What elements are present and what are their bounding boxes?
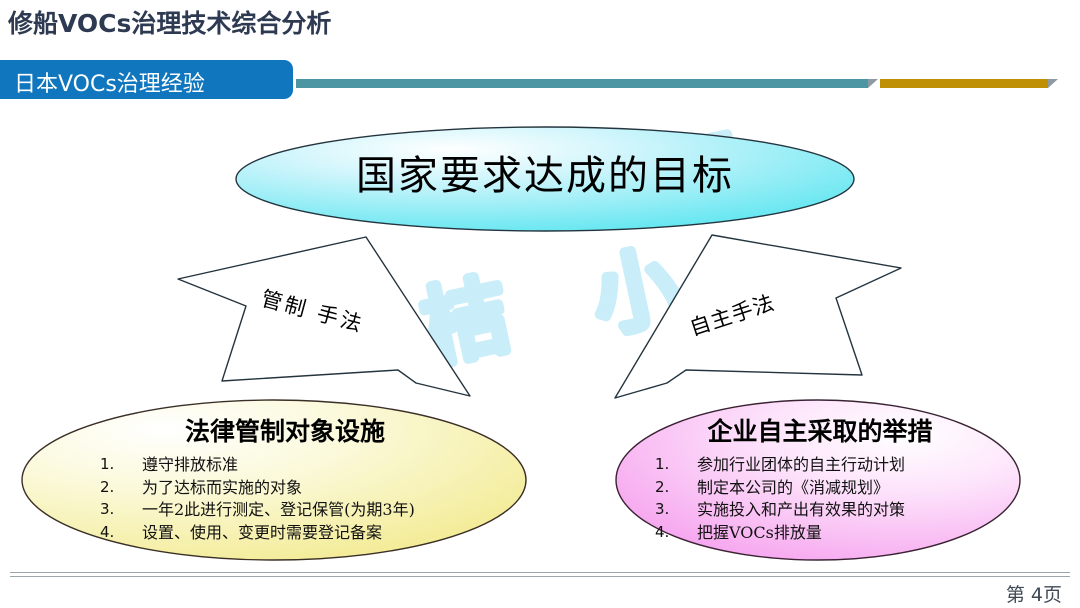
list-item-number: 2. <box>655 477 697 500</box>
footer-divider <box>10 572 1070 577</box>
list-item-number: 1. <box>100 454 142 477</box>
panel-list-regulatory: 1. 遵守排放标准 2. 为了达标而实施的对象 3. 一年2此进行测定、登记保管… <box>100 454 470 545</box>
list-item-number: 1. <box>655 454 697 477</box>
list-item-number: 4. <box>100 522 142 545</box>
list-item-number: 2. <box>100 477 142 500</box>
list-item: 4. 设置、使用、变更时需要登记备案 <box>100 522 470 545</box>
list-item: 2. 为了达标而实施的对象 <box>100 477 470 500</box>
list-item-number: 3. <box>100 499 142 522</box>
list-item: 4. 把握VOCs排放量 <box>655 522 985 545</box>
list-item-number: 3. <box>655 499 697 522</box>
panel-list-voluntary: 1. 参加行业团体的自主行动计划 2. 制定本公司的《消减规划》 3. 实施投入… <box>655 454 985 545</box>
panel-heading-regulatory: 法律管制对象设施 <box>100 412 470 448</box>
slide-canvas: 修船VOCs治理技术综合分析 日本VOCs治理经验 <box>0 0 1080 608</box>
list-item-text: 遵守排放标准 <box>142 454 238 477</box>
list-item-text: 把握VOCs排放量 <box>697 522 822 545</box>
list-item: 1. 参加行业团体的自主行动计划 <box>655 454 985 477</box>
panel-voluntary: 企业自主采取的举措 1. 参加行业团体的自主行动计划 2. 制定本公司的《消减规… <box>655 412 985 545</box>
list-item: 3. 一年2此进行测定、登记保管(为期3年) <box>100 499 470 522</box>
goal-label: 国家要求达成的目标 <box>236 143 854 201</box>
list-item-text: 参加行业团体的自主行动计划 <box>697 454 905 477</box>
list-item: 3. 实施投入和产出有效果的对策 <box>655 499 985 522</box>
list-item: 1. 遵守排放标准 <box>100 454 470 477</box>
list-item: 2. 制定本公司的《消减规划》 <box>655 477 985 500</box>
list-item-text: 一年2此进行测定、登记保管(为期3年) <box>142 499 415 522</box>
page-number: 第 4页 <box>1006 580 1062 607</box>
panel-heading-voluntary: 企业自主采取的举措 <box>655 412 985 448</box>
list-item-text: 实施投入和产出有效果的对策 <box>697 499 905 522</box>
list-item-text: 设置、使用、变更时需要登记备案 <box>142 522 382 545</box>
list-item-number: 4. <box>655 522 697 545</box>
list-item-text: 制定本公司的《消减规划》 <box>697 477 889 500</box>
list-item-text: 为了达标而实施的对象 <box>142 477 302 500</box>
panel-regulatory: 法律管制对象设施 1. 遵守排放标准 2. 为了达标而实施的对象 3. 一年2此… <box>100 412 470 545</box>
